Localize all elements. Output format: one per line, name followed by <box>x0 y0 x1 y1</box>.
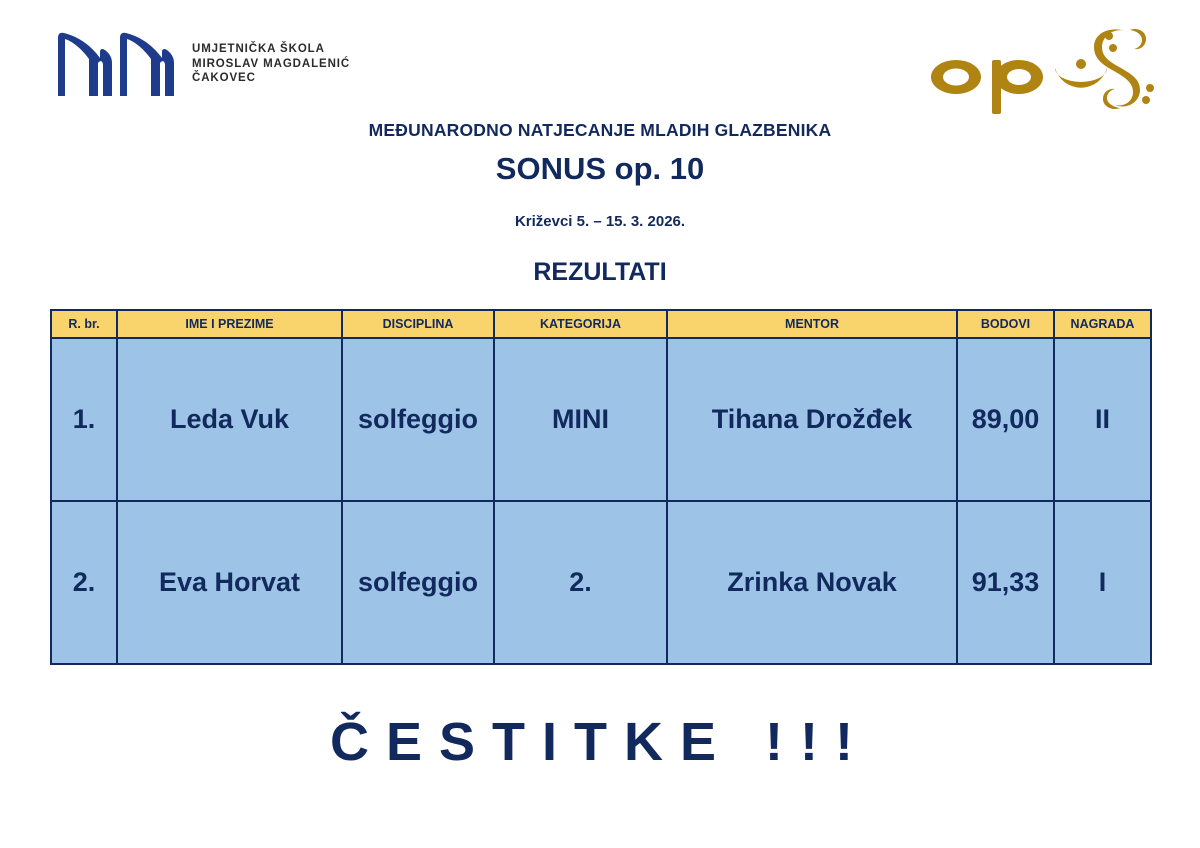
title-block: MEĐUNARODNO NATJECANJE MLADIH GLAZBENIKA… <box>0 120 1200 287</box>
column-header-name: IME I PREZIME <box>117 310 342 338</box>
cell-award: II <box>1054 338 1151 501</box>
school-line-3: ČAKOVEC <box>192 71 350 86</box>
cell-points: 91,33 <box>957 501 1054 664</box>
column-header-category: KATEGORIJA <box>494 310 667 338</box>
school-line-2: MIROSLAV MAGDALENIĆ <box>192 57 350 72</box>
cell-points: 89,00 <box>957 338 1054 501</box>
cell-award: I <box>1054 501 1151 664</box>
cell-category: MINI <box>494 338 667 501</box>
congratulations-text: ČESTITKE !!! <box>0 711 1200 773</box>
competition-title: MEĐUNARODNO NATJECANJE MLADIH GLAZBENIKA <box>0 120 1200 141</box>
school-name-block: UMJETNIČKA ŠKOLA MIROSLAV MAGDALENIĆ ČAK… <box>192 42 350 86</box>
cell-mentor: Tihana Drožđek <box>667 338 957 501</box>
column-header-rank: R. br. <box>51 310 117 338</box>
section-heading: REZULTATI <box>0 258 1200 287</box>
cell-rank: 2. <box>51 501 117 664</box>
table-row: 2. Eva Horvat solfeggio 2. Zrinka Novak … <box>51 501 1151 664</box>
cell-rank: 1. <box>51 338 117 501</box>
column-header-award: NAGRADA <box>1054 310 1151 338</box>
table-header-row: R. br. IME I PREZIME DISCIPLINA KATEGORI… <box>51 310 1151 338</box>
results-table-wrapper: R. br. IME I PREZIME DISCIPLINA KATEGORI… <box>50 309 1150 665</box>
school-logo: UMJETNIČKA ŠKOLA MIROSLAV MAGDALENIĆ ČAK… <box>56 28 350 98</box>
cell-name: Leda Vuk <box>117 338 342 501</box>
column-header-points: BODOVI <box>957 310 1054 338</box>
opus-wordmark-icon <box>924 22 1164 114</box>
place-and-date: Križevci 5. – 15. 3. 2026. <box>0 213 1200 230</box>
edition-title: SONUS op. 10 <box>0 151 1200 187</box>
column-header-discipline: DISCIPLINA <box>342 310 494 338</box>
table-row: 1. Leda Vuk solfeggio MINI Tihana Drožđe… <box>51 338 1151 501</box>
column-header-mentor: MENTOR <box>667 310 957 338</box>
cell-name: Eva Horvat <box>117 501 342 664</box>
cell-mentor: Zrinka Novak <box>667 501 957 664</box>
results-table: R. br. IME I PREZIME DISCIPLINA KATEGORI… <box>50 309 1152 665</box>
cell-category: 2. <box>494 501 667 664</box>
school-line-1: UMJETNIČKA ŠKOLA <box>192 42 350 57</box>
page-header: UMJETNIČKA ŠKOLA MIROSLAV MAGDALENIĆ ČAK… <box>0 0 1200 118</box>
cell-discipline: solfeggio <box>342 338 494 501</box>
mm-monogram-icon <box>56 28 176 98</box>
cell-discipline: solfeggio <box>342 501 494 664</box>
